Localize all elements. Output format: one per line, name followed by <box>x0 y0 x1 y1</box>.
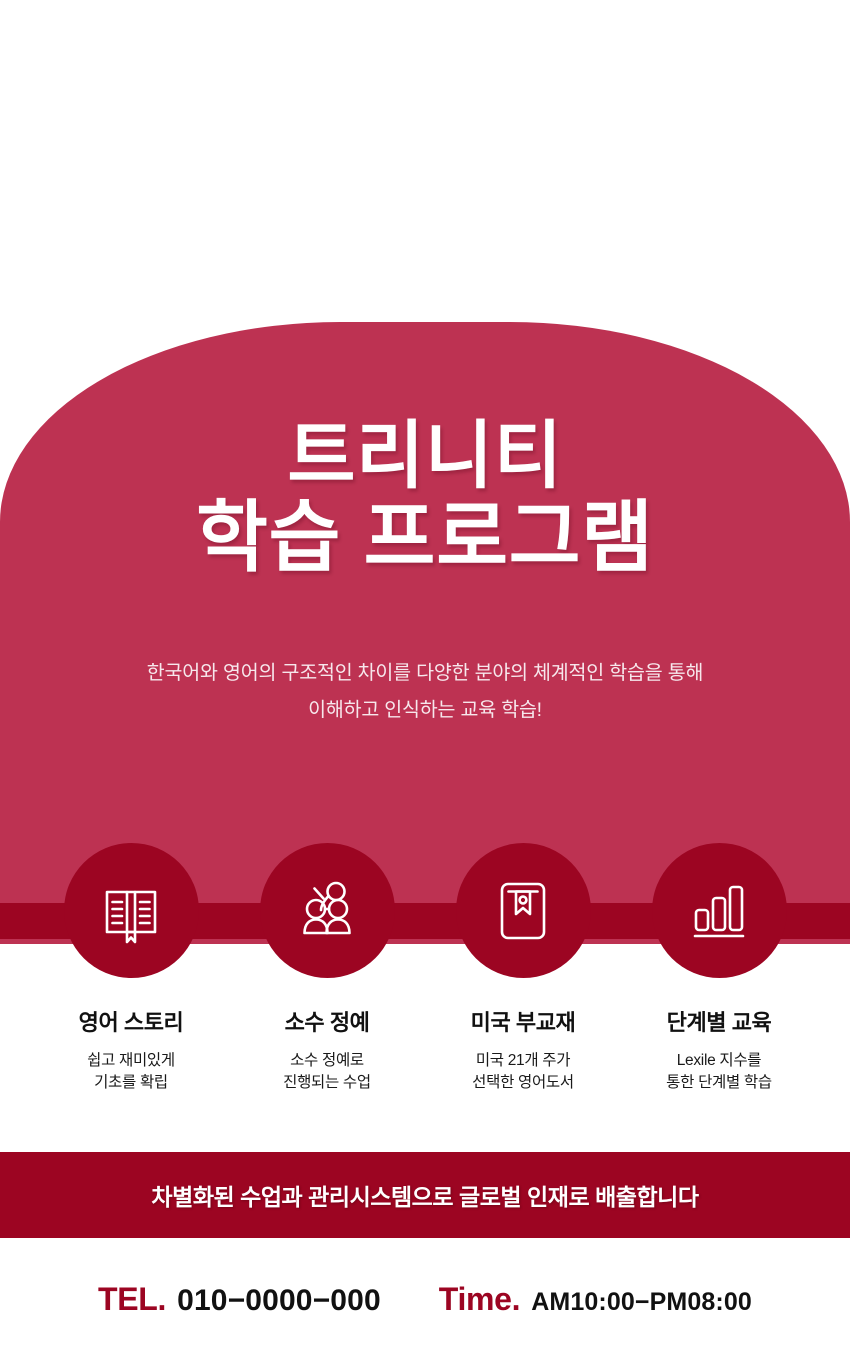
feature-desc-line-1: 쉽고 재미있게 <box>87 1050 175 1072</box>
feature-title: 미국 부교재 <box>471 1005 576 1037</box>
feature-description: 쉽고 재미있게 기초를 확립 <box>87 1050 175 1094</box>
feature-item-us-textbook: 미국 부교재 미국 21개 주가 선택한 영어도서 <box>438 843 609 1094</box>
feature-list: 영어 스토리 쉽고 재미있게 기초를 확립 <box>0 843 850 1094</box>
time-value: AM10:00−PM08:00 <box>531 1288 752 1317</box>
title-line-secondary: 학습 프로그램 <box>0 497 850 578</box>
feature-icon-badge <box>64 843 199 978</box>
title-line-primary: 트리니티 <box>0 418 850 495</box>
feature-description: 소수 정예로 진행되는 수업 <box>283 1050 371 1094</box>
feature-item-small-class: 소수 정예 소수 정예로 진행되는 수업 <box>242 843 413 1094</box>
open-book-icon <box>96 876 166 946</box>
tel-value: 010−0000−000 <box>177 1284 381 1318</box>
contact-telephone: TEL. 010−0000−000 <box>98 1281 381 1318</box>
poster-canvas: 트리니티 학습 프로그램 한국어와 영어의 구조적인 차이를 다양한 분야의 체… <box>0 0 850 1361</box>
feature-item-english-story: 영어 스토리 쉽고 재미있게 기초를 확립 <box>46 843 217 1094</box>
feature-icon-badge <box>652 843 787 978</box>
time-label: Time. <box>439 1281 520 1318</box>
feature-icon-badge <box>260 843 395 978</box>
feature-title: 소수 정예 <box>285 1005 370 1037</box>
highlight-banner-text: 차별화된 수업과 관리시스템으로 글로벌 인재로 배출합니다 <box>151 1178 698 1212</box>
feature-desc-line-2: 선택한 영어도서 <box>472 1072 574 1094</box>
subtitle-line-2: 이해하고 인식하는 교육 학습! <box>0 692 850 729</box>
highlight-banner: 차별화된 수업과 관리시스템으로 글로벌 인재로 배출합니다 <box>0 1152 850 1238</box>
feature-title: 단계별 교육 <box>667 1005 772 1037</box>
feature-desc-line-2: 진행되는 수업 <box>283 1072 371 1094</box>
contact-hours: Time. AM10:00−PM08:00 <box>439 1281 752 1318</box>
feature-desc-line-2: 기초를 확립 <box>87 1072 175 1094</box>
page-title: 트리니티 학습 프로그램 <box>0 418 850 578</box>
feature-desc-line-1: 소수 정예로 <box>283 1050 371 1072</box>
feature-icon-badge <box>456 843 591 978</box>
feature-desc-line-1: Lexile 지수를 <box>666 1050 772 1072</box>
feature-desc-line-1: 미국 21개 주가 <box>472 1050 574 1072</box>
teacher-and-students-icon <box>292 876 362 946</box>
feature-desc-line-2: 통한 단계별 학습 <box>666 1072 772 1094</box>
feature-item-level-based: 단계별 교육 Lexile 지수를 통한 단계별 학습 <box>634 843 805 1094</box>
bar-chart-icon <box>684 876 754 946</box>
bookmarked-textbook-icon <box>488 876 558 946</box>
contact-footer: TEL. 010−0000−000 Time. AM10:00−PM08:00 <box>0 1281 850 1318</box>
feature-description: 미국 21개 주가 선택한 영어도서 <box>472 1050 574 1094</box>
tel-label: TEL. <box>98 1281 166 1318</box>
feature-description: Lexile 지수를 통한 단계별 학습 <box>666 1050 772 1094</box>
feature-title: 영어 스토리 <box>79 1005 184 1037</box>
hero-subtitle: 한국어와 영어의 구조적인 차이를 다양한 분야의 체계적인 학습을 통해 이해… <box>0 655 850 730</box>
subtitle-line-1: 한국어와 영어의 구조적인 차이를 다양한 분야의 체계적인 학습을 통해 <box>0 655 850 692</box>
